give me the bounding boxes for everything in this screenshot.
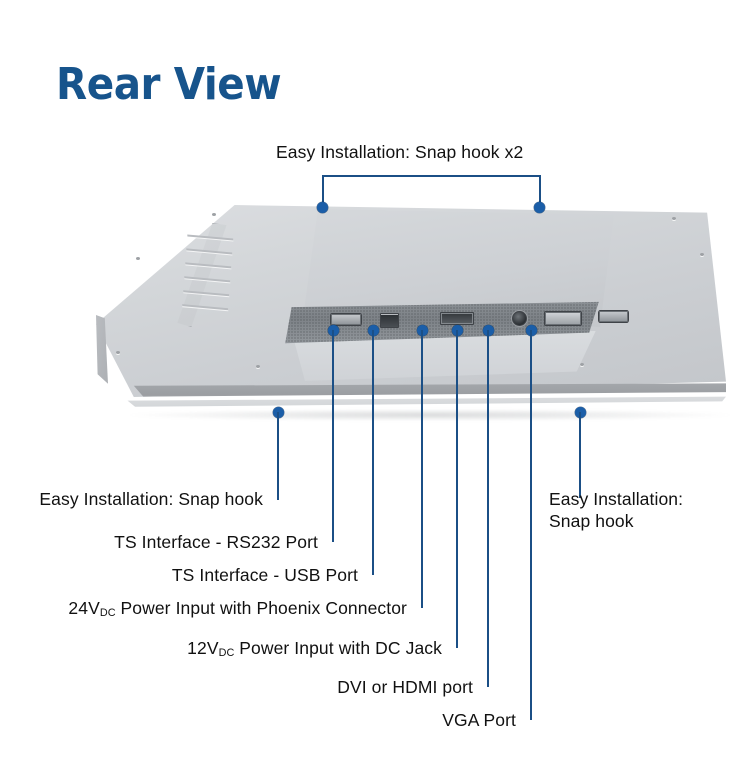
ground-shadow: [130, 409, 730, 421]
rs232-connector: [330, 313, 362, 326]
callout-label-dvi-hdmi: DVI or HDMI port: [0, 676, 473, 698]
callout-label-snap-hook-left: Easy Installation: Snap hook: [0, 488, 263, 510]
screw-hole: [116, 351, 120, 354]
callout-label-snap-hook-x2: Easy Installation: Snap hook x2: [276, 141, 523, 163]
callout-label-snap-hook-right: Easy Installation: Snap hook: [549, 488, 683, 533]
monitor-illustration: [60, 195, 750, 430]
page-title: Rear View: [56, 62, 281, 108]
top-bracket-left-endpoint: [317, 202, 328, 213]
screw-hole: [700, 253, 704, 256]
vga-connector: [598, 310, 629, 323]
leader-line-usb: [372, 330, 374, 575]
leader-line-vga: [530, 330, 532, 720]
screw-hole: [256, 365, 260, 368]
top-bracket-horizontal: [322, 175, 541, 177]
callout-label-usb: TS Interface - USB Port: [0, 564, 358, 586]
leader-line-snap-hook-right: [579, 412, 581, 498]
dc-jack-voltage: 12V: [187, 638, 218, 658]
phoenix-voltage-sub: DC: [100, 607, 116, 619]
screw-hole: [136, 257, 140, 260]
screw-hole: [580, 363, 584, 366]
rear-view-diagram: Rear View: [0, 0, 750, 757]
dc-jack-voltage-sub: DC: [219, 647, 235, 659]
phoenix-text: Power Input with Phoenix Connector: [116, 598, 407, 618]
dvi-connector: [544, 311, 582, 326]
callout-label-dc-jack: 12VDC Power Input with DC Jack: [0, 637, 442, 659]
snap-hook-right-line2: Snap hook: [549, 510, 683, 532]
top-bracket-right-endpoint: [534, 202, 545, 213]
usb-connector: [380, 313, 399, 328]
screw-hole: [212, 213, 216, 216]
dc-jack-text: Power Input with DC Jack: [234, 638, 442, 658]
leader-line-dc-jack: [456, 330, 458, 648]
callout-label-vga: VGA Port: [0, 709, 516, 731]
phoenix-voltage: 24V: [68, 598, 99, 618]
leader-line-rs232: [332, 330, 334, 542]
leader-line-dvi-hdmi: [487, 330, 489, 687]
leader-line-snap-hook-left: [277, 412, 279, 500]
callout-label-phoenix: 24VDC Power Input with Phoenix Connector: [0, 597, 407, 619]
callout-label-rs232: TS Interface - RS232 Port: [0, 531, 318, 553]
screw-hole: [672, 217, 676, 220]
snap-hook-right-line1: Easy Installation:: [549, 488, 683, 510]
io-port-group: [282, 299, 602, 345]
leader-line-phoenix: [421, 330, 423, 608]
phoenix-connector: [440, 312, 474, 325]
vent-slots: [175, 227, 255, 326]
dc-jack-connector: [512, 311, 527, 326]
